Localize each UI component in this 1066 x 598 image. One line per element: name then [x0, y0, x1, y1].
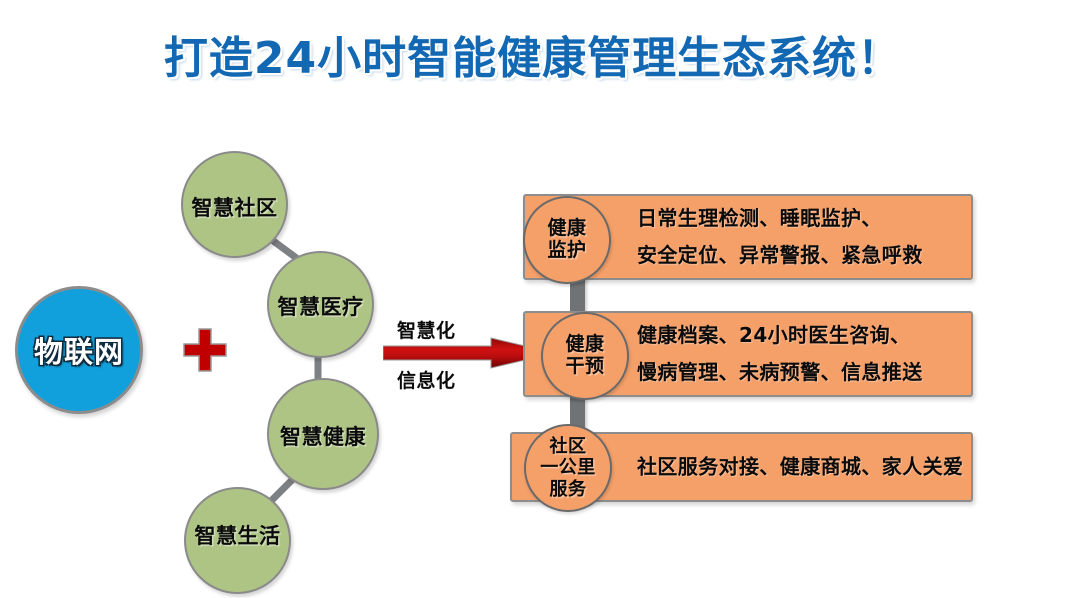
node-label: 智慧社区 [192, 192, 278, 222]
panel-text-line: 慢病管理、未病预警、信息推送 [637, 354, 961, 391]
node-smart-medical[interactable]: 智慧医疗 [267, 251, 374, 358]
node-community-service[interactable]: 社区 一公里 服务 [524, 424, 612, 512]
node-label-line: 健康 [547, 218, 586, 240]
node-health-intervention[interactable]: 健康 干预 [541, 312, 629, 400]
node-label-line: 干预 [565, 356, 604, 378]
slide-canvas: 打造24小时智能健康管理生态系统！ 物联网 智慧社区 智慧医疗 智慧健康 智慧生… [0, 0, 1066, 598]
node-label: 智慧医疗 [278, 291, 364, 321]
node-health-monitoring[interactable]: 健康 监护 [523, 196, 611, 284]
iot-label: 物联网 [34, 329, 124, 371]
panel-text-line: 健康档案、24小时医生咨询、 [637, 317, 961, 354]
arrow-label-bottom: 信息化 [397, 366, 456, 393]
arrow-label-top: 智慧化 [397, 316, 456, 343]
node-label: 智慧生活 [195, 520, 281, 550]
node-label: 智慧健康 [280, 421, 366, 451]
node-label-line: 一公里 [540, 457, 596, 479]
panel-text: 健康档案、24小时医生咨询、 慢病管理、未病预警、信息推送 [637, 317, 961, 391]
panel-text-line: 安全定位、异常警报、紧急呼救 [637, 237, 961, 274]
node-smart-community[interactable]: 智慧社区 [181, 151, 288, 258]
node-label-line: 健康 [565, 334, 604, 356]
panel-text-line: 日常生理检测、睡眠监护、 [637, 200, 961, 237]
panel-text: 社区服务对接、健康商城、家人关爱 [637, 449, 961, 486]
node-label-line: 社区 [550, 436, 587, 458]
node-smart-life[interactable]: 智慧生活 [184, 487, 291, 594]
node-label-line: 监护 [547, 240, 586, 262]
page-title: 打造24小时智能健康管理生态系统！ [0, 22, 1066, 86]
panel-text: 日常生理检测、睡眠监护、 安全定位、异常警报、紧急呼救 [637, 200, 961, 274]
node-smart-health[interactable]: 智慧健康 [267, 378, 379, 490]
node-label-line: 服务 [550, 479, 587, 501]
red-plus-icon [182, 327, 228, 373]
panel-text-line: 社区服务对接、健康商城、家人关爱 [637, 449, 961, 486]
green-node-connectors [0, 0, 1066, 598]
iot-circle-icon[interactable]: 物联网 [15, 286, 143, 414]
